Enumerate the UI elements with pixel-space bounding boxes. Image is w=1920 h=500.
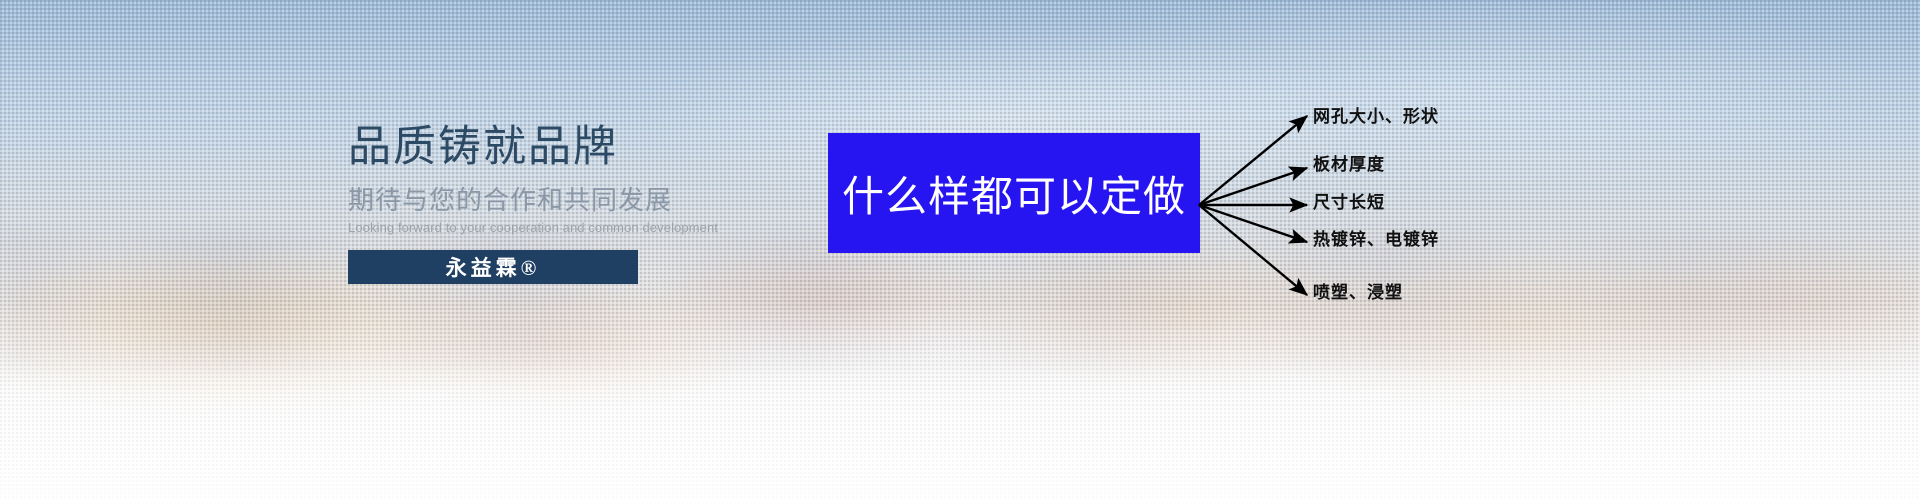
slogan-subheadline: 期待与您的合作和共同发展 — [348, 186, 768, 216]
arrow-fan — [1195, 80, 1325, 330]
slogan-block: 品质铸就品牌 期待与您的合作和共同发展 Looking forward to y… — [348, 124, 768, 284]
feature-label-dimension-length: 尺寸长短 — [1313, 188, 1385, 213]
background-bottom-fade — [0, 300, 1920, 500]
arrow-fan-svg — [1195, 80, 1325, 330]
slogan-english-tagline: Looking forward to your cooperation and … — [348, 220, 768, 236]
slogan-headline: 品质铸就品牌 — [348, 124, 768, 170]
customization-callout-box: 什么样都可以定做 — [828, 133, 1200, 253]
arrow-line-1 — [1199, 116, 1307, 205]
feature-label-list: 网孔大小、形状 板材厚度 尺寸长短 热镀锌、电镀锌 喷塑、浸塑 — [1313, 80, 1613, 330]
promo-banner: 品质铸就品牌 期待与您的合作和共同发展 Looking forward to y… — [0, 0, 1920, 500]
arrow-line-4 — [1199, 205, 1307, 242]
arrow-line-5 — [1199, 205, 1307, 295]
feature-label-galvanizing: 热镀锌、电镀锌 — [1313, 225, 1439, 250]
brand-name: 永益霖® — [446, 252, 541, 282]
feature-label-plate-thickness: 板材厚度 — [1313, 150, 1385, 175]
arrow-line-2 — [1199, 168, 1307, 205]
customization-callout-text: 什么样都可以定做 — [842, 163, 1186, 224]
brand-badge: 永益霖® — [348, 250, 638, 284]
feature-label-mesh-size-shape: 网孔大小、形状 — [1313, 102, 1439, 127]
feature-label-coating: 喷塑、浸塑 — [1313, 278, 1403, 303]
